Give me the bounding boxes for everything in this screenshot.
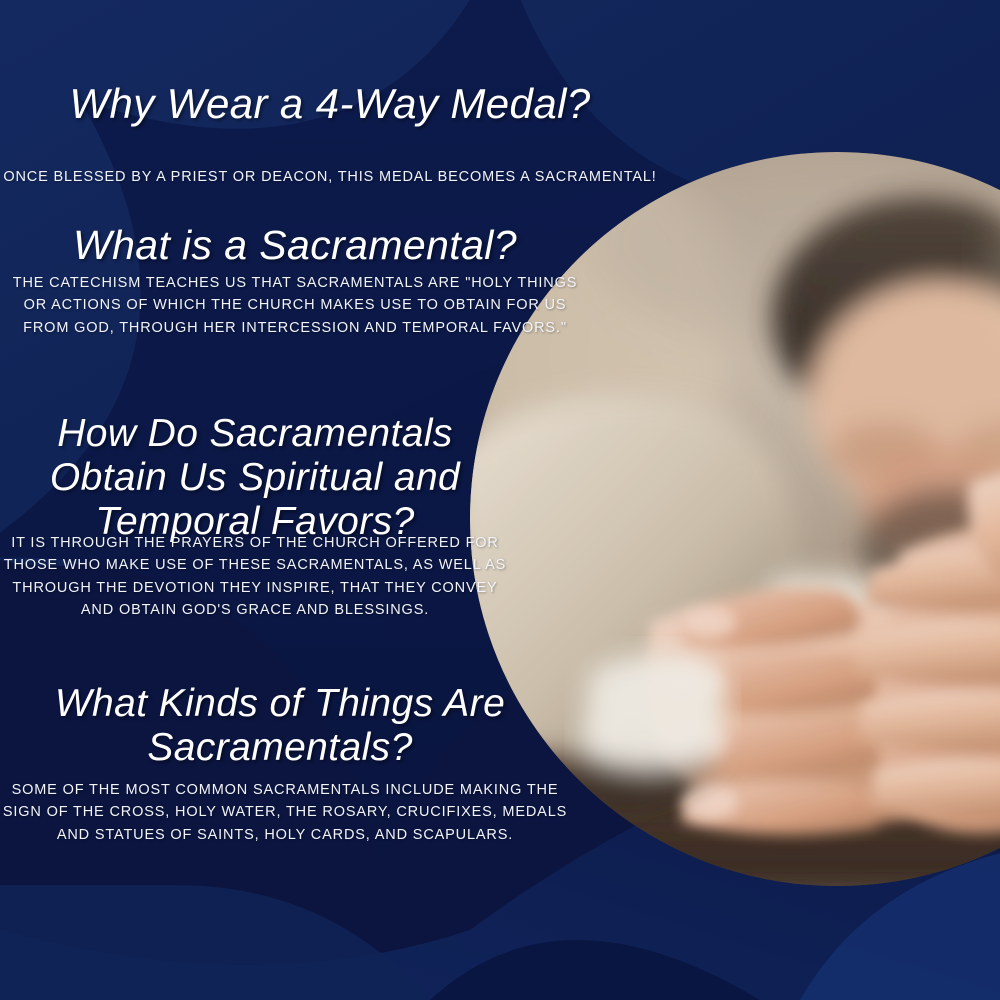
section-body-how-do-sacramentals-obtain: IT IS THROUGH THE PRAYERS OF THE CHURCH …: [0, 532, 510, 622]
section-body-what-is-a-sacramental: THE CATECHISM TEACHES US THAT SACRAMENTA…: [0, 272, 590, 339]
section-body-what-kinds-of-things: SOME OF THE MOST COMMON SACRAMENTALS INC…: [0, 779, 570, 846]
section-heading-what-is-a-sacramental: What is a Sacramental?: [0, 222, 590, 268]
intro-paragraph: ONCE BLESSED BY A PRIEST OR DEACON, THIS…: [0, 166, 660, 188]
section-heading-how-do-sacramentals-obtain: How Do Sacramentals Obtain Us Spiritual …: [0, 412, 510, 544]
page-title: Why Wear a 4-Way Medal?: [0, 80, 660, 127]
section-heading-what-kinds-of-things: What Kinds of Things Are Sacramentals?: [0, 682, 560, 770]
text-column: Why Wear a 4-Way Medal? ONCE BLESSED BY …: [0, 0, 600, 1000]
infographic-poster: Why Wear a 4-Way Medal? ONCE BLESSED BY …: [0, 0, 1000, 1000]
